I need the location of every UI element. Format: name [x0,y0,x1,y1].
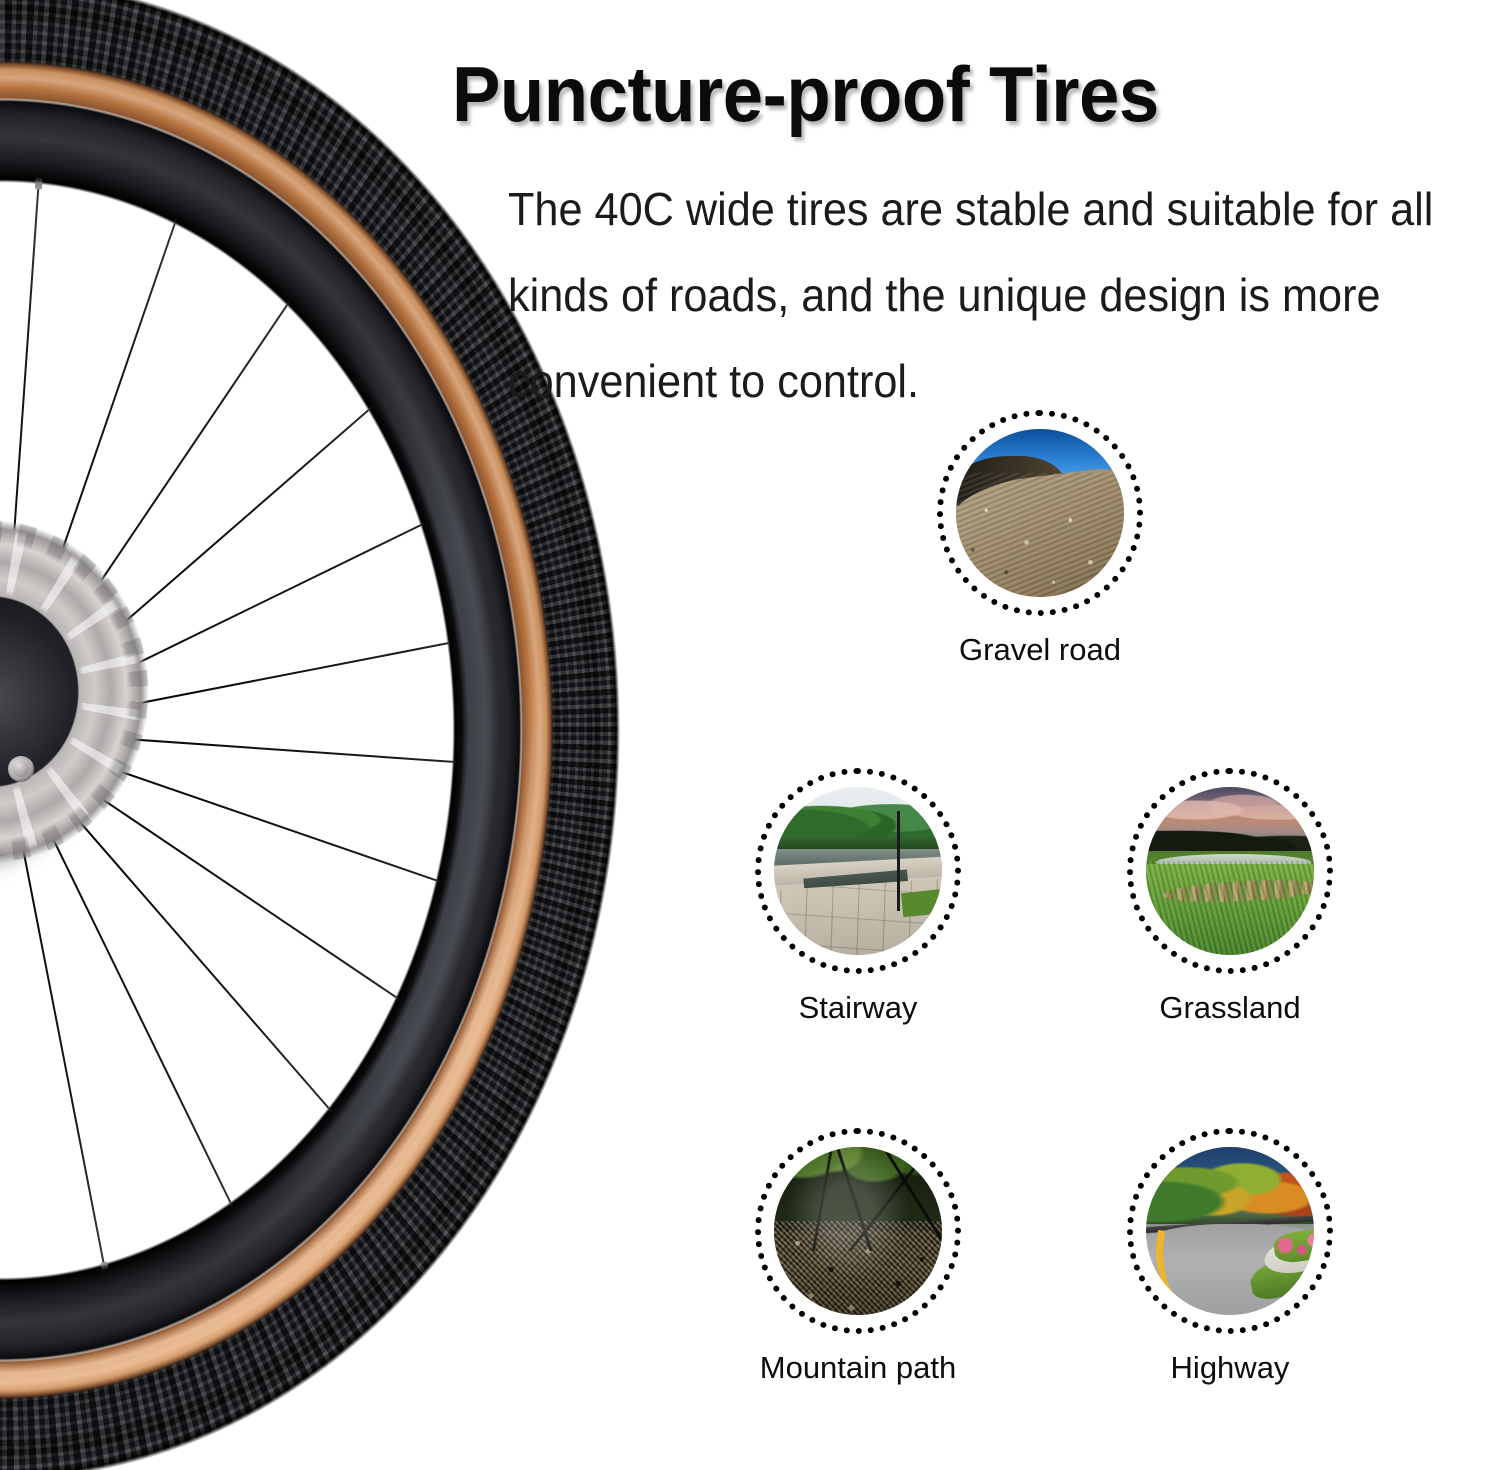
callout-label: Gravel road [920,632,1160,668]
dotted-ring [1127,1128,1333,1334]
spoke-nipple [100,1261,111,1282]
callout-highway: Highway [1110,1128,1350,1386]
spoke-nipple [486,480,507,495]
spoke-nipple [511,903,532,916]
callout-mountain-path: Mountain path [738,1128,978,1386]
callout-gravel-road: Gravel road [920,410,1160,668]
spoke-nipple [300,262,317,282]
photo-gravel-road [956,429,1124,597]
disc-brake-rotor [0,520,162,910]
dotted-ring [755,1128,961,1334]
callout-label: Highway [1110,1350,1350,1386]
photo-mountain-path [774,1147,942,1315]
dotted-ring [755,768,961,974]
page-title: Puncture-proof Tires [452,46,1419,142]
spoke-nipple [173,197,186,218]
spoke-nipple [234,1216,249,1237]
callout-grassland: Grassland [1110,768,1350,1026]
rotor-bolt [8,756,34,782]
dotted-ring [1127,768,1333,974]
photo-grassland [1146,787,1314,955]
spoke-nipple [447,1030,467,1047]
dotted-ring [937,410,1143,616]
spoke-nipple [353,1137,371,1157]
photo-highway [1146,1147,1314,1315]
photo-stairway [774,787,942,955]
spoke-nipple [531,619,552,630]
spoke-nipple [34,169,42,189]
spoke-nipple [540,764,560,772]
callout-stairway: Stairway [738,768,978,1026]
spoke-nipple [407,359,427,377]
rotor-scallops [0,520,162,910]
callout-label: Stairway [738,990,978,1026]
product-description: The 40C wide tires are stable and suitab… [508,166,1435,424]
callout-label: Mountain path [738,1350,978,1386]
callout-label: Grassland [1110,990,1350,1026]
